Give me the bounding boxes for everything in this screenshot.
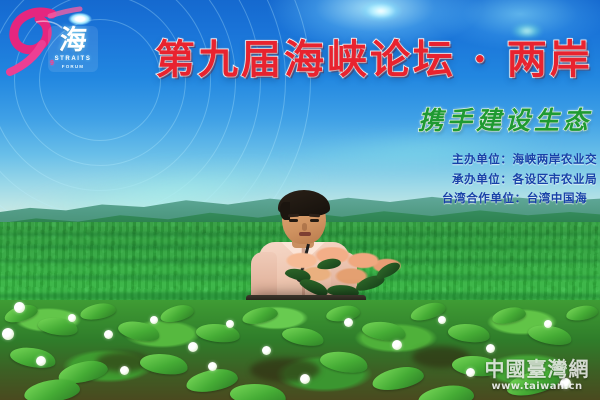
speaker-eye-right <box>310 219 319 222</box>
logo-latin-line-2: FORUM <box>42 64 104 69</box>
organizer-credits: 主办单位：海峡两岸农业交 承办单位：各设区市农业局 台湾合作单位：台湾中国海 <box>452 150 597 209</box>
speaker-eye-left <box>289 219 298 222</box>
organizer-line-undertaker: 承办单位：各设区市农业局 <box>452 170 597 190</box>
watermark: 中國臺灣網 www.taiwan.cn <box>480 358 594 393</box>
screenshot-canvas: 海 9 STRAITS FORUM 第九届海峡论坛 · 两岸 携手建设生态 主办… <box>0 0 600 400</box>
straits-forum-logo: 海 9 STRAITS FORUM <box>6 4 114 82</box>
logo-seal-character: 海 <box>48 24 98 58</box>
speaker-mouth <box>299 232 311 236</box>
speaker-hair <box>278 190 330 216</box>
event-subtitle: 携手建设生态 <box>418 104 592 138</box>
watermark-url: www.taiwan.cn <box>480 380 594 393</box>
speaker-nose <box>302 223 307 231</box>
spotlight-glow-icon <box>351 0 411 28</box>
logo-latin-line-1: STRAITS <box>42 56 104 62</box>
organizer-line-taiwan-partner: 台湾合作单位：台湾中国海 <box>442 189 597 209</box>
organizer-line-host: 主办单位：海峡两岸农业交 <box>452 150 597 170</box>
event-title: 第九届海峡论坛 · 两岸 <box>155 33 593 87</box>
watermark-site-name: 中國臺灣網 <box>480 358 594 380</box>
